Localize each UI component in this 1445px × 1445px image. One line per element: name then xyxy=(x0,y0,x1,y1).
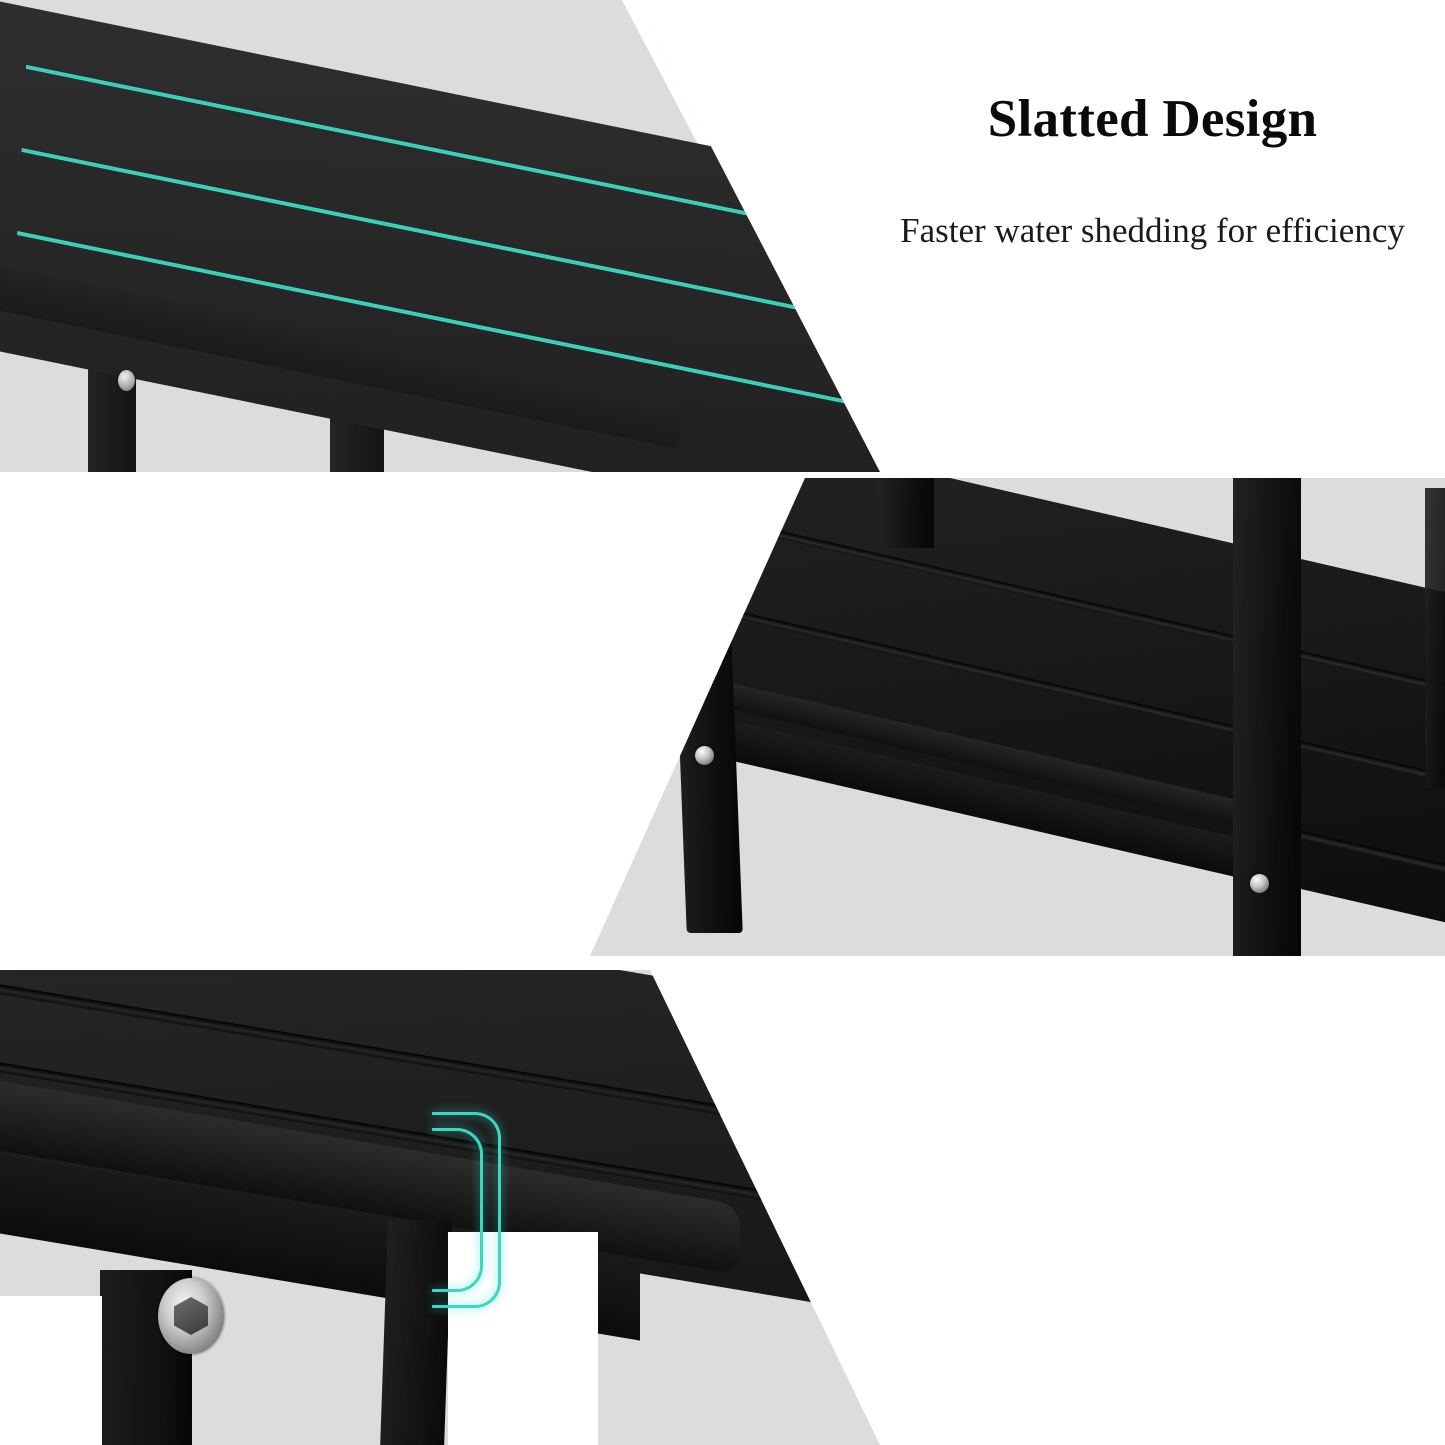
table-leg-back xyxy=(878,478,934,548)
feature-text-slatted-design: Slatted Design Faster water shedding for… xyxy=(880,90,1425,260)
feature-panel-blunted-edge: Blunted Edge Ensures safe play for child… xyxy=(0,970,1445,1445)
photo-background-gap-left xyxy=(0,1296,102,1445)
screw-icon xyxy=(695,746,714,765)
feature-description: Faster water shedding for efficiency xyxy=(880,203,1425,260)
feature-title: Slatted Design xyxy=(880,90,1425,149)
blunted-edge-annotation-inner xyxy=(432,1128,483,1292)
feature-infographic: Slatted Design Faster water shedding for… xyxy=(0,0,1445,1445)
shelf-slat-gap-1 xyxy=(705,513,1445,696)
product-photo-double-layered-desktop xyxy=(590,478,1445,956)
feature-panel-slatted-design: Slatted Design Faster water shedding for… xyxy=(0,0,1445,472)
screw-icon xyxy=(118,370,135,391)
slat-gap-highlight-1 xyxy=(26,65,846,236)
hex-bolt-icon xyxy=(158,1278,224,1354)
feature-panel-double-layered-desktop: Double-Layered Desktop Double-Layered De… xyxy=(0,478,1445,956)
table-leg-far xyxy=(1425,488,1445,788)
product-photo-slatted-design xyxy=(0,0,880,472)
table-leg-left xyxy=(669,478,742,933)
screw-icon xyxy=(1250,874,1269,893)
hex-socket xyxy=(174,1297,208,1335)
